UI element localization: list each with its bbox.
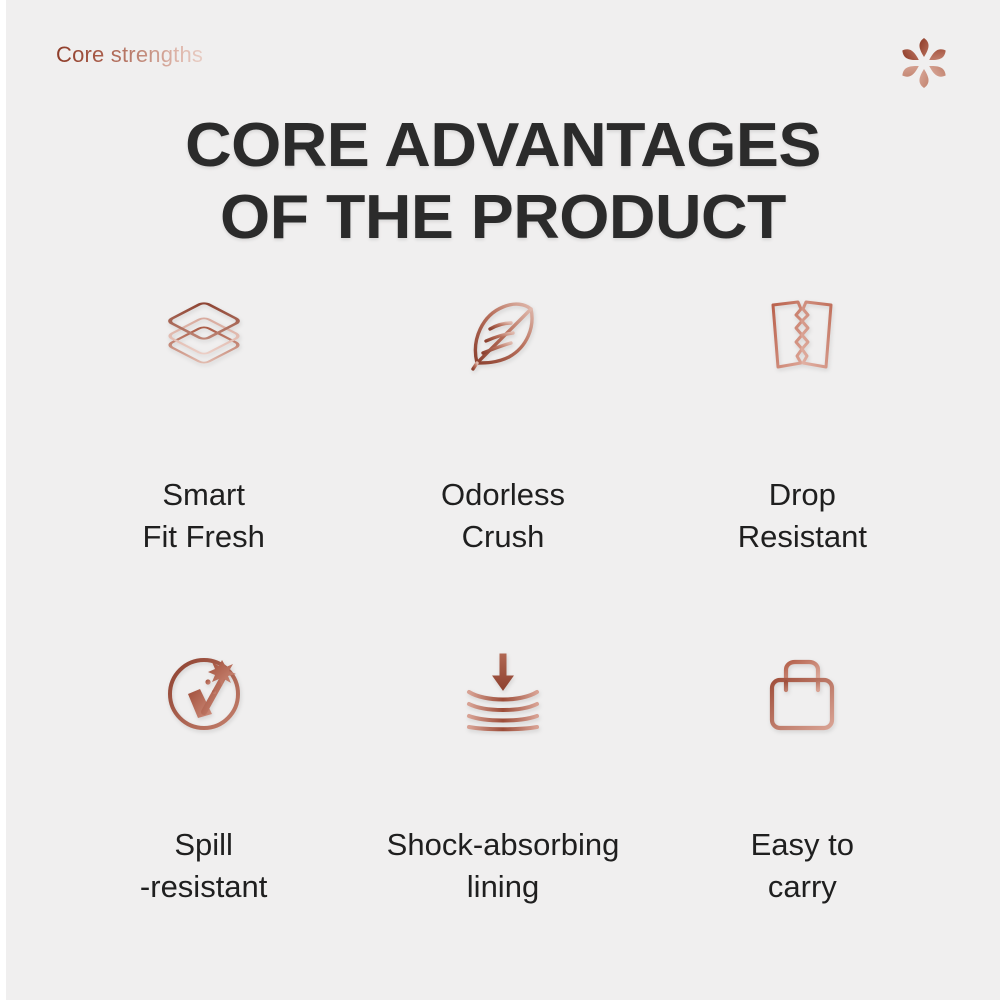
core-advantages-poster: Core strengths [6,0,1000,1000]
feature-label: Spill -resistant [140,824,267,909]
feature-item: Drop Resistant [653,258,952,618]
feature-label: Smart Fit Fresh [143,474,265,559]
page-title: CORE ADVANTAGES OF THE PRODUCT [6,110,1000,254]
feature-label: Odorless Crush [441,474,565,559]
feature-label-line-2: Fit Fresh [143,516,265,558]
feature-label-line-1: Drop [738,474,867,516]
page-title-line-2: OF THE PRODUCT [0,182,1000,254]
torn-paper-icon [747,258,857,408]
feature-label-line-1: Shock-absorbing [387,824,620,866]
feature-grid: Smart Fit Fresh [54,258,952,978]
feature-label-line-1: Smart [143,474,265,516]
shock-absorbing-layers-icon [448,618,558,766]
feature-label-line-2: Crush [441,516,565,558]
feature-label-line-2: lining [387,866,620,908]
stacked-layers-icon [149,258,259,408]
feature-label: Drop Resistant [738,474,867,559]
feature-item: Easy to carry [653,618,952,978]
feature-label-line-1: Odorless [441,474,565,516]
eyebrow-text: Core strengths [56,42,203,68]
feature-item: Spill -resistant [54,618,353,978]
spill-proof-icon [149,618,259,766]
handbag-icon [747,618,857,766]
feature-label-line-2: Resistant [738,516,867,558]
feature-label-line-1: Easy to [751,824,854,866]
feature-label-line-1: Spill [140,824,267,866]
feature-label-line-2: carry [751,866,854,908]
feature-item: Odorless Crush [353,258,652,618]
page-title-line-1: CORE ADVANTAGES [0,110,1000,182]
feature-item: Smart Fit Fresh [54,258,353,618]
six-petal-flower-logo-icon [894,33,954,93]
feature-item: Shock-absorbing lining [353,618,652,978]
feature-label-line-2: -resistant [140,866,267,908]
leaf-icon [448,258,558,408]
feature-label: Easy to carry [751,824,854,909]
feature-label: Shock-absorbing lining [387,824,620,909]
